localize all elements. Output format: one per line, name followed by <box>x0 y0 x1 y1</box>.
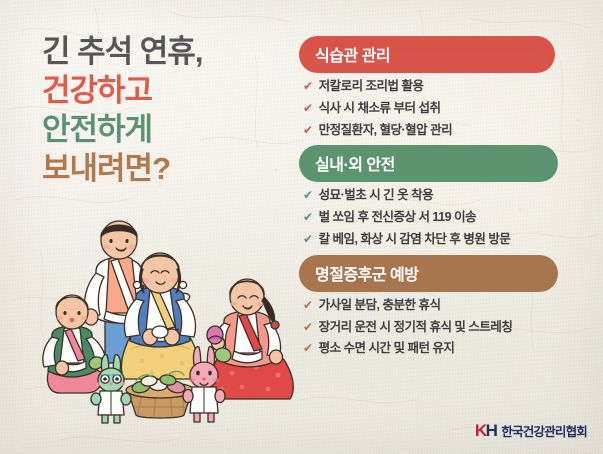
list-item-label: 만정질환자, 혈당·혈압 관리 <box>319 124 453 138</box>
check-icon: ✔ <box>303 102 313 116</box>
check-icon: ✔ <box>303 233 313 247</box>
check-icon: ✔ <box>303 124 313 138</box>
card-title-diet-management: 식습관 관리 <box>299 36 555 73</box>
check-icon: ✔ <box>303 342 313 356</box>
list-item-label: 식사 시 채소류 부터 섭취 <box>319 102 441 116</box>
list-item-label: 벌 쏘임 후 전신증상 서 119 이송 <box>319 211 477 225</box>
headline-block: 긴 추석 연휴, 건강하고 안전하게 보내려면? <box>42 36 292 191</box>
logo-kahp: KH 한국건강관리협회 <box>475 421 587 440</box>
list-item-label: 가사일 분담, 충분한 휴식 <box>319 299 441 313</box>
list-item: ✔ 가사일 분담, 충분한 휴식 <box>303 299 589 313</box>
list-item-label: 칼 베임, 화상 시 감염 차단 후 병원 방문 <box>319 233 511 247</box>
card-title-indoor-outdoor-safety: 실내·외 안전 <box>299 145 558 182</box>
list-item-label: 저칼로리 조리법 활용 <box>319 80 424 94</box>
poster-canvas: 긴 추석 연휴, 건강하고 안전하게 보내려면? 식습관 관리 ✔ 저칼로리 조… <box>0 0 603 454</box>
list-item-label: 평소 수면 시간 및 패턴 유지 <box>319 342 455 356</box>
logo-letter-k: K <box>475 421 486 440</box>
family-illustration <box>10 213 302 428</box>
card-title-holiday-syndrome-prevention: 명절증후군 예방 <box>299 255 558 292</box>
list-item: ✔ 장거리 운전 시 정기적 휴식 및 스트레칭 <box>303 321 589 335</box>
list-item: ✔ 저칼로리 조리법 활용 <box>303 80 589 94</box>
list-item: ✔ 평소 수면 시간 및 패턴 유지 <box>303 342 589 356</box>
card-items-holiday-syndrome-prevention: ✔ 가사일 분담, 충분한 휴식 ✔ 장거리 운전 시 정기적 휴식 및 스트레… <box>299 299 589 356</box>
list-item: ✔ 칼 베임, 화상 시 감염 차단 후 병원 방문 <box>303 233 589 247</box>
check-icon: ✔ <box>303 299 313 313</box>
headline-line-3: 안전하게 <box>42 114 292 147</box>
headline-line-4: 보내려면? <box>42 153 292 186</box>
headline-line-2: 건강하고 <box>42 75 292 108</box>
logo-letter-h: H <box>486 421 497 440</box>
list-item-label: 장거리 운전 시 정기적 휴식 및 스트레칭 <box>319 321 513 335</box>
logo-organization-name: 한국건강관리협회 <box>501 421 587 440</box>
card-diet-management: 식습관 관리 ✔ 저칼로리 조리법 활용 ✔ 식사 시 채소류 부터 섭취 ✔ … <box>299 36 589 137</box>
check-icon: ✔ <box>303 189 313 203</box>
figure-girl <box>207 279 293 399</box>
card-holiday-syndrome-prevention: 명절증후군 예방 ✔ 가사일 분담, 충분한 휴식 ✔ 장거리 운전 시 정기적… <box>299 255 589 356</box>
kh-logo-icon: KH <box>475 422 497 439</box>
list-item: ✔ 벌 쏘임 후 전신증상 서 119 이송 <box>303 211 589 225</box>
check-icon: ✔ <box>303 211 313 225</box>
card-indoor-outdoor-safety: 실내·외 안전 ✔ 성묘·벌초 시 긴 옷 착용 ✔ 벌 쏘임 후 전신증상 서… <box>299 145 589 246</box>
list-item: ✔ 성묘·벌초 시 긴 옷 착용 <box>303 189 589 203</box>
card-items-indoor-outdoor-safety: ✔ 성묘·벌초 시 긴 옷 착용 ✔ 벌 쏘임 후 전신증상 서 119 이송 … <box>299 189 589 246</box>
list-item: ✔ 만정질환자, 혈당·혈압 관리 <box>303 124 589 138</box>
list-item-label: 성묘·벌초 시 긴 옷 착용 <box>319 189 434 203</box>
content-cards: 식습관 관리 ✔ 저칼로리 조리법 활용 ✔ 식사 시 채소류 부터 섭취 ✔ … <box>299 36 589 364</box>
check-icon: ✔ <box>303 321 313 335</box>
card-items-diet-management: ✔ 저칼로리 조리법 활용 ✔ 식사 시 채소류 부터 섭취 ✔ 만정질환자, … <box>299 80 589 137</box>
headline-line-1: 긴 추석 연휴, <box>42 36 292 69</box>
list-item: ✔ 식사 시 채소류 부터 섭취 <box>303 102 589 116</box>
check-icon: ✔ <box>303 80 313 94</box>
